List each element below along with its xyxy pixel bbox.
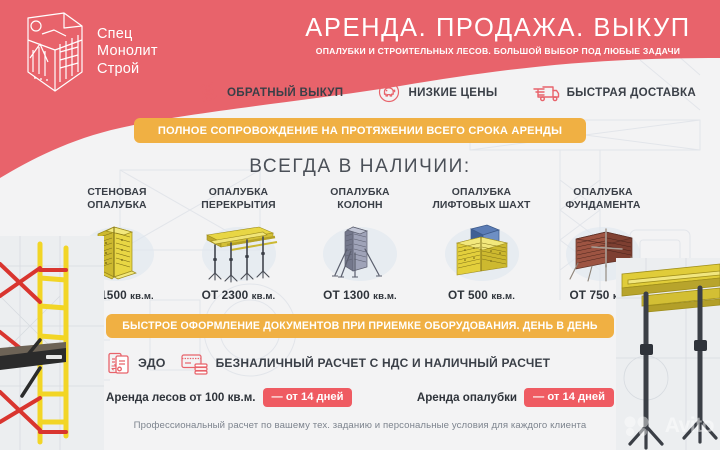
term-scaffolding: Аренда лесов от 100 кв.м. — от 14 дней (106, 388, 352, 407)
payment-methods: ЭДО БЕЗНАЛИЧНЫЙ РАСЧЕТ С НДС И НАЛИЧНЫЙ … (106, 350, 550, 376)
scaffolding-tower-photo (0, 236, 104, 450)
section-title-always-in-stock: ВСЕГДА В НАЛИЧИИ: (0, 156, 720, 178)
buyback-arrows-dollar-icon: $ (196, 80, 220, 104)
term-label: Аренда лесов от 100 кв.м. (106, 391, 256, 404)
payment-label: ЭДО (138, 356, 166, 370)
product-slab-formwork: ОПАЛУБКА ПЕРЕКРЫТИЯ (180, 186, 298, 302)
slab-formwork-icon (197, 219, 281, 285)
payment-label: БЕЗНАЛИЧНЫЙ РАСЧЕТ С НДС И НАЛИЧНЫЙ РАСЧ… (216, 356, 551, 370)
product-name: ОПАЛУБКА ФУНДАМЕНТА (544, 186, 662, 213)
advertisement-banner: Спец Монолит Строй АРЕНДА. ПРОДАЖА. ВЫКУ… (0, 0, 720, 450)
product-price: ОТ 2300 кв.м. (180, 288, 298, 302)
page-title: АРЕНДА. ПРОДАЖА. ВЫКУП (286, 14, 710, 42)
page-subtitle: ОПАЛУБКИ И СТРОИТЕЛЬНЫХ ЛЕСОВ. БОЛЬШОЙ В… (286, 46, 710, 56)
banner-fast-documents: БЫСТРОЕ ОФОРМЛЕНИЕ ДОКУМЕНТОВ ПРИ ПРИЕМК… (106, 314, 614, 338)
avito-watermark: Avito (665, 414, 714, 438)
building-outline-icon (22, 10, 88, 94)
feature-label: ОБРАТНЫЙ ВЫКУП (227, 86, 343, 99)
column-formwork-icon (325, 219, 395, 285)
brand-name-line3: Строй (97, 61, 158, 78)
payment-edo: ЭДО (106, 350, 166, 376)
product-image (180, 213, 298, 285)
brand-name-line2: Монолит (97, 43, 158, 60)
brand-name-line1: Спец (97, 26, 158, 43)
card-and-cash-icon (180, 350, 210, 376)
product-price: ОТ 500 кв.м. (423, 288, 541, 302)
product-list: СТЕНОВАЯ ОПАЛУБКА (58, 186, 662, 302)
product-image (423, 213, 541, 285)
feature-low-prices: НИЗКИЕ ЦЕНЫ (377, 80, 497, 104)
edo-document-exchange-icon (106, 350, 132, 376)
lift-shaft-formwork-icon (443, 219, 521, 285)
product-column-formwork: ОПАЛУБКА КОЛОНН (301, 186, 419, 302)
delivery-truck-icon (532, 80, 560, 104)
term-label: Аренда опалубки (417, 391, 517, 404)
rental-terms: Аренда лесов от 100 кв.м. — от 14 дней А… (106, 388, 614, 407)
brand-name: Спец Монолит Строй (97, 26, 158, 77)
banner-full-support: ПОЛНОЕ СОПРОВОЖДЕНИЕ НА ПРОТЯЖЕНИИ ВСЕГО… (134, 118, 586, 143)
product-name: ОПАЛУБКА ЛИФТОВЫХ ШАХТ (423, 186, 541, 213)
piggy-bank-icon (377, 80, 401, 104)
header-title-block: АРЕНДА. ПРОДАЖА. ВЫКУП ОПАЛУБКИ И СТРОИТ… (286, 14, 710, 56)
product-image (301, 213, 419, 285)
footer-note: Профессиональный расчет по вашему тех. з… (0, 420, 720, 431)
product-name: ОПАЛУБКА ПЕРЕКРЫТИЯ (180, 186, 298, 213)
payment-cashless-and-cash: БЕЗНАЛИЧНЫЙ РАСЧЕТ С НДС И НАЛИЧНЫЙ РАСЧ… (180, 350, 551, 376)
brand-logo: Спец Монолит Строй (22, 10, 158, 94)
status-badge: — от 14 дней (524, 388, 614, 407)
watermark-dots-icon (622, 416, 654, 436)
status-badge: — от 14 дней (263, 388, 353, 407)
product-name: СТЕНОВАЯ ОПАЛУБКА (58, 186, 176, 213)
feature-label: БЫСТРАЯ ДОСТАВКА (567, 86, 696, 99)
feature-buyback: $ ОБРАТНЫЙ ВЫКУП (196, 80, 343, 104)
feature-label: НИЗКИЕ ЦЕНЫ (408, 86, 497, 99)
svg-text:$: $ (206, 88, 211, 97)
product-name: ОПАЛУБКА КОЛОНН (301, 186, 419, 213)
feature-fast-delivery: БЫСТРАЯ ДОСТАВКА (532, 80, 696, 104)
feature-list: $ ОБРАТНЫЙ ВЫКУП НИЗКИЕ ЦЕНЫ (196, 80, 696, 104)
product-price: ОТ 1300 кв.м. (301, 288, 419, 302)
term-formwork: Аренда опалубки — от 14 дней (417, 388, 614, 407)
product-lift-shaft-formwork: ОПАЛУБКА ЛИФТОВЫХ ШАХТ (423, 186, 541, 302)
